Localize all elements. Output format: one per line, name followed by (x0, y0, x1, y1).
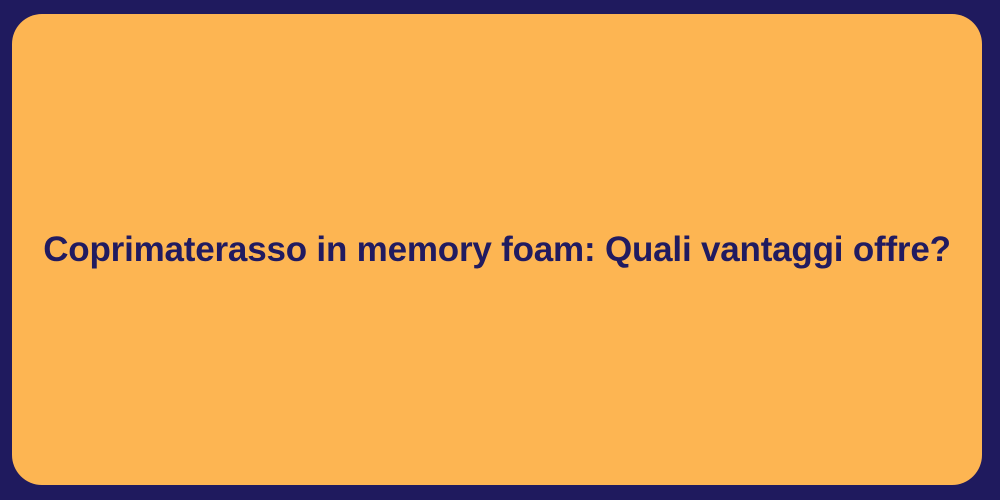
page-background: Coprimaterasso in memory foam: Quali van… (0, 0, 1000, 500)
title-card: Coprimaterasso in memory foam: Quali van… (12, 14, 982, 485)
page-title: Coprimaterasso in memory foam: Quali van… (12, 228, 982, 272)
